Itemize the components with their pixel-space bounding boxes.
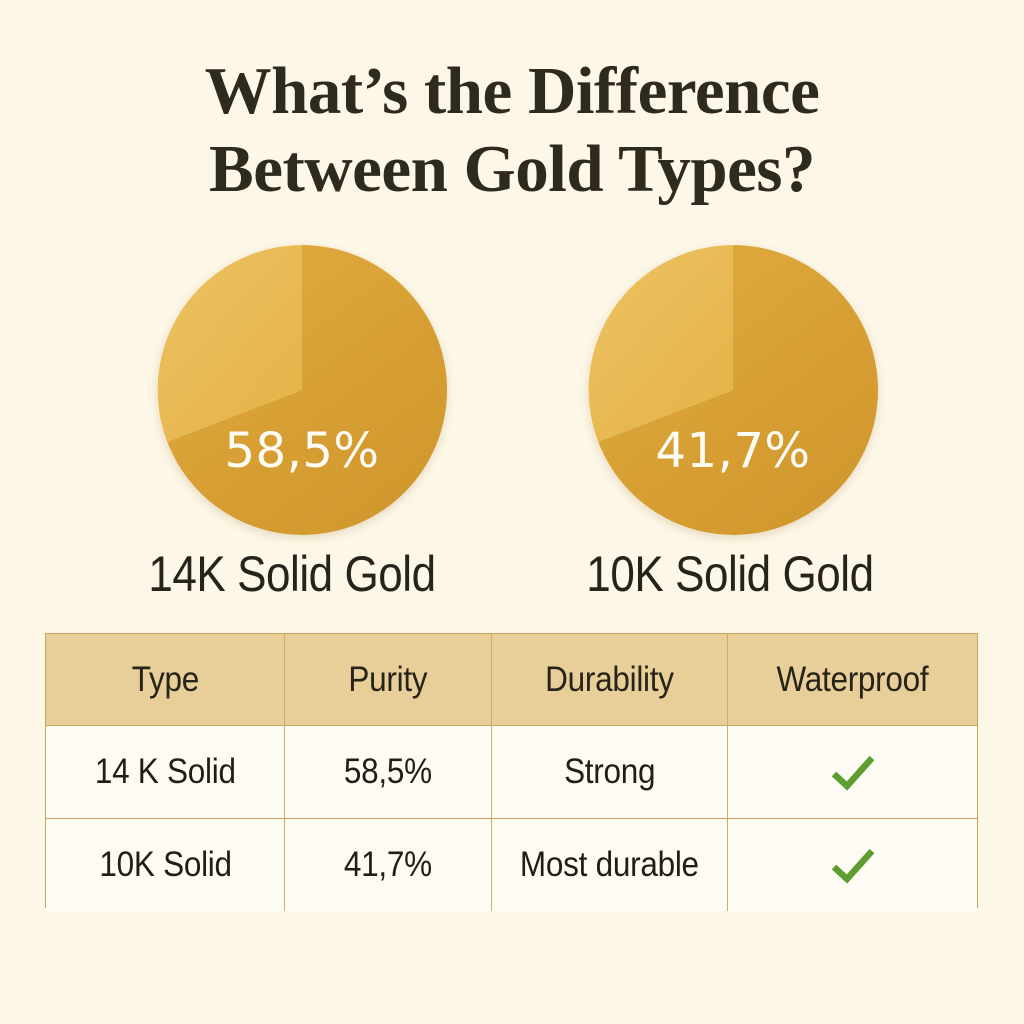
cell-type-10k: 10K Solid — [46, 819, 285, 912]
pie-disc-14k — [157, 245, 447, 535]
cell-purity-10k-label: 41,7% — [344, 845, 432, 885]
pie-chart-group: 58,5% — [0, 245, 1024, 545]
table-header-waterproof-label: Waterproof — [777, 660, 929, 700]
table-header-purity-label: Purity — [349, 660, 428, 700]
cell-type-14k-label: 14 K Solid — [95, 752, 236, 792]
pie-chart-14k: 58,5% — [157, 245, 447, 535]
cell-type-10k-label: 10K Solid — [99, 845, 231, 885]
cell-purity-10k: 41,7% — [285, 819, 491, 912]
cell-type-14k: 14 K Solid — [46, 726, 285, 819]
check-icon — [830, 753, 876, 793]
check-icon — [830, 846, 876, 886]
table-header-waterproof: Waterproof — [728, 634, 977, 726]
table-row: 14 K Solid 58,5% Strong — [46, 726, 977, 819]
comparison-table: Type Purity Durability Waterproof 14 K S… — [45, 633, 978, 908]
cell-purity-14k-label: 58,5% — [344, 752, 432, 792]
page-title-line-2: Between Gold Types? — [0, 130, 1024, 208]
cell-durability-10k: Most durable — [491, 819, 728, 912]
pie-chart-10k: 41,7% — [588, 245, 878, 535]
table-header-type-label: Type — [132, 660, 199, 700]
pie-value-14k: 58,5% — [157, 423, 447, 479]
pie-disc-10k — [588, 245, 878, 535]
pie-caption-14k: 14K Solid Gold — [90, 545, 495, 603]
table-header-type: Type — [46, 634, 285, 726]
cell-purity-14k: 58,5% — [285, 726, 491, 819]
pie-caption-10k: 10K Solid Gold — [528, 545, 933, 603]
page-title-line-1: What’s the Difference — [0, 52, 1024, 130]
table-header-row: Type Purity Durability Waterproof — [46, 634, 977, 726]
cell-durability-14k: Strong — [491, 726, 728, 819]
infographic-canvas: What’s the Difference Between Gold Types… — [0, 0, 1024, 1024]
cell-waterproof-14k — [728, 726, 977, 819]
table-header-durability-label: Durability — [545, 660, 674, 700]
cell-durability-10k-label: Most durable — [520, 845, 699, 885]
pie-value-10k: 41,7% — [588, 423, 878, 479]
cell-waterproof-10k — [728, 819, 977, 912]
table-header-durability: Durability — [491, 634, 728, 726]
table-header-purity: Purity — [285, 634, 491, 726]
cell-durability-14k-label: Strong — [564, 752, 655, 792]
table-row: 10K Solid 41,7% Most durable — [46, 819, 977, 912]
page-title: What’s the Difference Between Gold Types… — [0, 52, 1024, 208]
